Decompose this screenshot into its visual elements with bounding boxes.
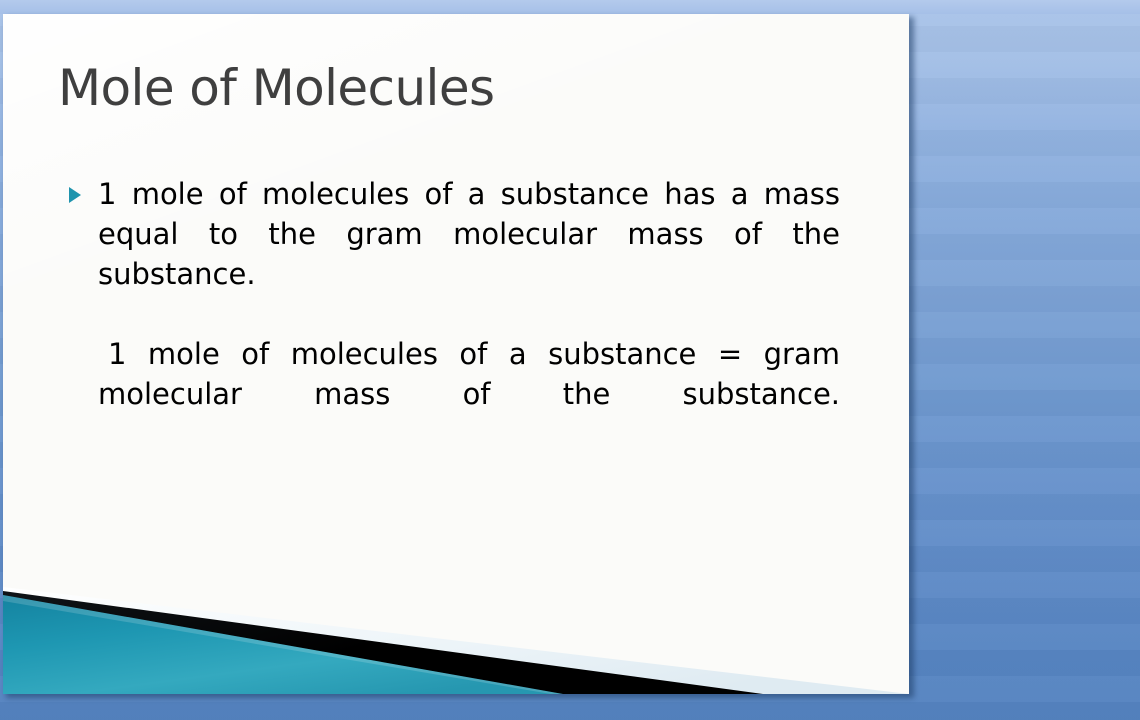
bullet-paragraph-2-text: 1 mole of molecules of a substance = gra… (98, 334, 840, 454)
slide-canvas: Mole of Molecules 1 mole of molecules of… (3, 14, 909, 694)
bullet-paragraph-2: 1 mole of molecules of a substance = gra… (65, 334, 840, 454)
slide-title: Mole of Molecules (58, 62, 858, 114)
corner-decoration (3, 569, 909, 694)
backdrop-top-strip (0, 0, 1140, 14)
slide-body: 1 mole of molecules of a substance has a… (65, 174, 840, 454)
bullet-paragraph-1-text: 1 mole of molecules of a substance has a… (98, 174, 840, 334)
bullet-paragraph-1: 1 mole of molecules of a substance has a… (65, 174, 840, 334)
presentation-viewer: Mole of Molecules 1 mole of molecules of… (0, 0, 1140, 720)
triangle-right-icon (69, 187, 81, 203)
